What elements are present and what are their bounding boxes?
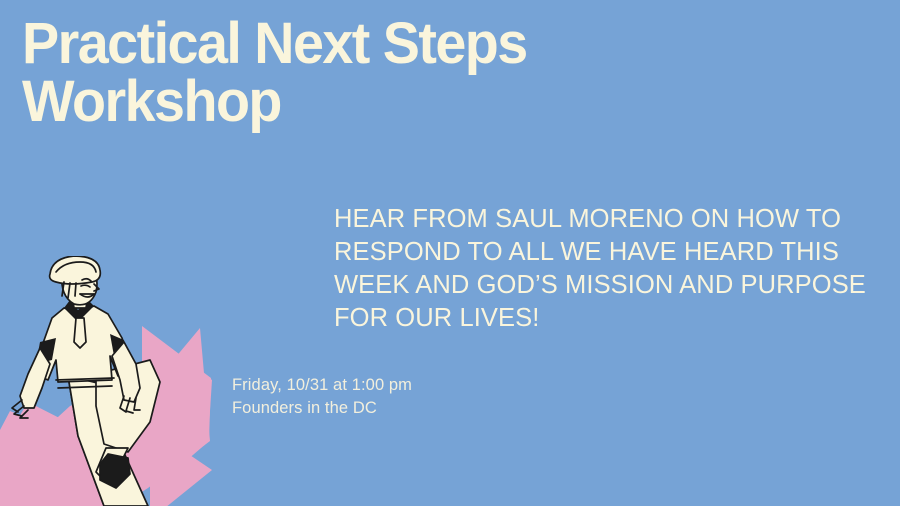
event-details: Friday, 10/31 at 1:00 pm Founders in the…: [232, 374, 552, 420]
body-line-3: WEEK AND GOD’S MISSION AND PURPOSE: [334, 269, 894, 302]
presentation-slide: Practical Next Steps Workshop HEAR FROM …: [0, 0, 900, 506]
event-location: Founders in the DC: [232, 397, 552, 420]
body-line-4: FOR OUR LIVES!: [334, 302, 894, 335]
slide-title: Practical Next Steps Workshop: [22, 15, 722, 131]
body-line-2: RESPOND TO ALL WE HAVE HEARD THIS: [334, 236, 894, 269]
slide-body-text: HEAR FROM SAUL MORENO ON HOW TO RESPOND …: [334, 203, 894, 335]
neck-scarf: [74, 318, 86, 348]
title-line-2: Workshop: [22, 73, 694, 131]
body-line-1: HEAR FROM SAUL MORENO ON HOW TO: [334, 203, 894, 236]
event-datetime: Friday, 10/31 at 1:00 pm: [232, 374, 552, 397]
illustration-artwork: [0, 256, 260, 506]
title-line-1: Practical Next Steps: [22, 15, 694, 73]
